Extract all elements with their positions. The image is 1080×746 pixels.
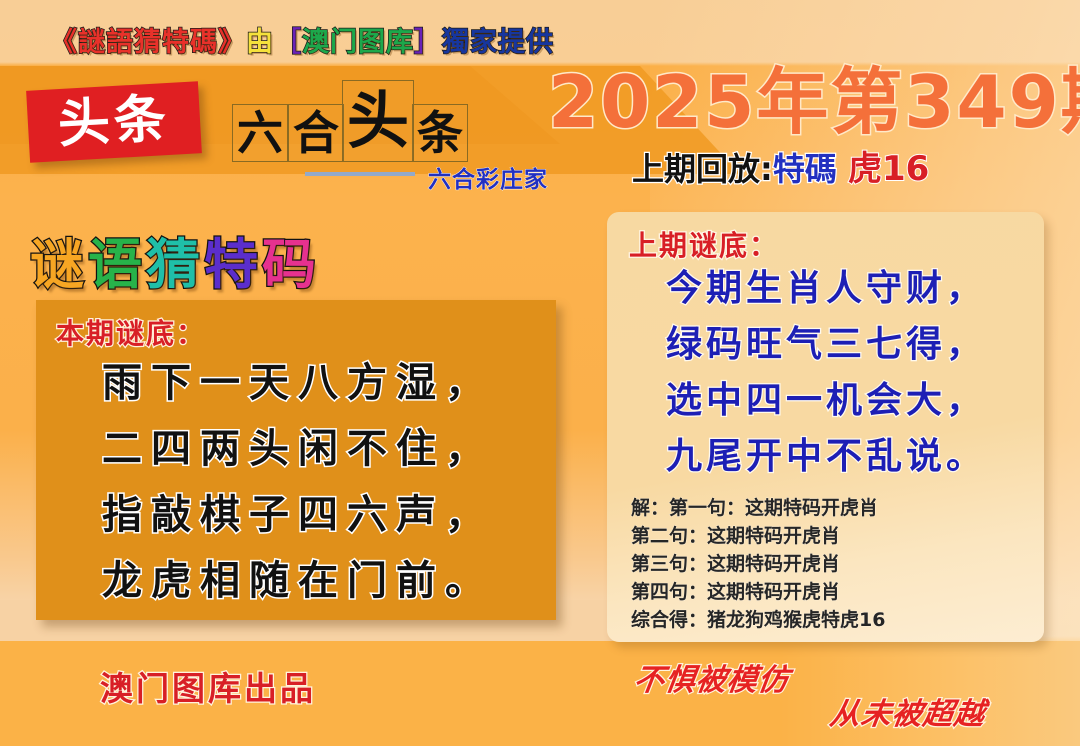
tagline-bracket-close: ］ bbox=[414, 20, 442, 59]
explanation-block: 解：第一句：这期特码开虎肖 第二句：这期特码开虎肖 第三句：这期特码开虎肖 第四… bbox=[631, 494, 1031, 634]
explanation-line: 第四句：这期特码开虎肖 bbox=[631, 578, 1031, 606]
riddle-line: 二四两头闲不住， bbox=[48, 416, 548, 482]
logo-badge: 头条 bbox=[26, 81, 202, 162]
current-riddle-box: 本期谜底： 雨下一天八方湿， 二四两头闲不住， 指敲棋子四六声， 龙虎相随在门前… bbox=[36, 300, 556, 620]
answer-line: 选中四一机会大， bbox=[621, 372, 1031, 428]
last-draw-row: 上期回放:特碼 虎16 bbox=[632, 152, 929, 186]
section-title-char: 谜 bbox=[30, 238, 88, 292]
current-riddle-lines: 雨下一天八方湿， 二四两头闲不住， 指敲棋子四六声， 龙虎相随在门前。 bbox=[48, 350, 548, 614]
answer-line: 今期生肖人守财， bbox=[621, 260, 1031, 316]
section-title-char: 特 bbox=[204, 238, 262, 292]
footer-slogan-2: 从未被超越 bbox=[828, 700, 987, 730]
section-title-char: 码 bbox=[262, 238, 320, 292]
answer-line: 绿码旺气三七得， bbox=[621, 316, 1031, 372]
grid-title-cell: 六 bbox=[232, 104, 288, 162]
riddle-line: 雨下一天八方湿， bbox=[48, 350, 548, 416]
last-draw-value: 虎16 bbox=[848, 149, 929, 189]
last-draw-label: 上期回放: bbox=[632, 150, 773, 188]
grid-title-cell: 条 bbox=[412, 104, 468, 162]
explanation-line-summary: 综合得：猪龙狗鸡猴虎特虎16 bbox=[631, 606, 1031, 634]
tagline-part-by: 由 bbox=[246, 20, 274, 59]
section-title-char: 语 bbox=[88, 238, 146, 292]
tagline-part-title: 《謎語猜特碼》 bbox=[50, 20, 246, 59]
riddle-line: 龙虎相随在门前。 bbox=[48, 548, 548, 614]
grid-title-cell: 合 bbox=[288, 104, 344, 162]
current-riddle-heading: 本期谜底： bbox=[56, 312, 206, 352]
answer-line: 九尾开中不乱说。 bbox=[621, 428, 1031, 484]
issue-title: 2025年第349期 bbox=[548, 66, 1080, 138]
section-title-riddle: 谜语猜特码 bbox=[30, 238, 320, 292]
footer-slogan-1: 不惧被模仿 bbox=[632, 666, 791, 696]
previous-answer-lines: 今期生肖人守财， 绿码旺气三七得， 选中四一机会大， 九尾开中不乱说。 bbox=[621, 260, 1031, 484]
last-draw-special-label: 特碼 bbox=[773, 150, 837, 188]
previous-answer-panel: 上期谜底： 今期生肖人守财， 绿码旺气三七得， 选中四一机会大， 九尾开中不乱说… bbox=[607, 212, 1044, 642]
explanation-line: 第二句：这期特码开虎肖 bbox=[631, 522, 1031, 550]
explanation-line: 解：第一句：这期特码开虎肖 bbox=[631, 494, 1031, 522]
grid-title: 六 合 头 条 bbox=[232, 80, 468, 162]
tagline-part-source: 澳门图库 bbox=[302, 20, 414, 59]
grid-title-cell: 头 bbox=[342, 80, 414, 162]
tagline-bracket-open: ［ bbox=[274, 20, 302, 59]
grid-title-subtitle: 六合彩庄家 bbox=[428, 160, 548, 194]
previous-answer-heading: 上期谜底： bbox=[629, 224, 779, 264]
logo-badge-label: 头条 bbox=[57, 93, 172, 151]
riddle-line: 指敲棋子四六声， bbox=[48, 482, 548, 548]
header-tagline: 《謎語猜特碼》由［澳门图库］獨家提供 bbox=[50, 20, 554, 59]
explanation-line: 第三句：这期特码开虎肖 bbox=[631, 550, 1031, 578]
tagline-part-exclusive: 獨家提供 bbox=[442, 20, 554, 59]
grid-title-underline bbox=[305, 172, 415, 176]
poster-root: 《謎語猜特碼》由［澳门图库］獨家提供 头条 六 合 头 条 六合彩庄家 2025… bbox=[0, 0, 1080, 746]
footer-brand: 澳门图库出品 bbox=[100, 672, 316, 705]
section-title-char: 猜 bbox=[146, 238, 204, 292]
